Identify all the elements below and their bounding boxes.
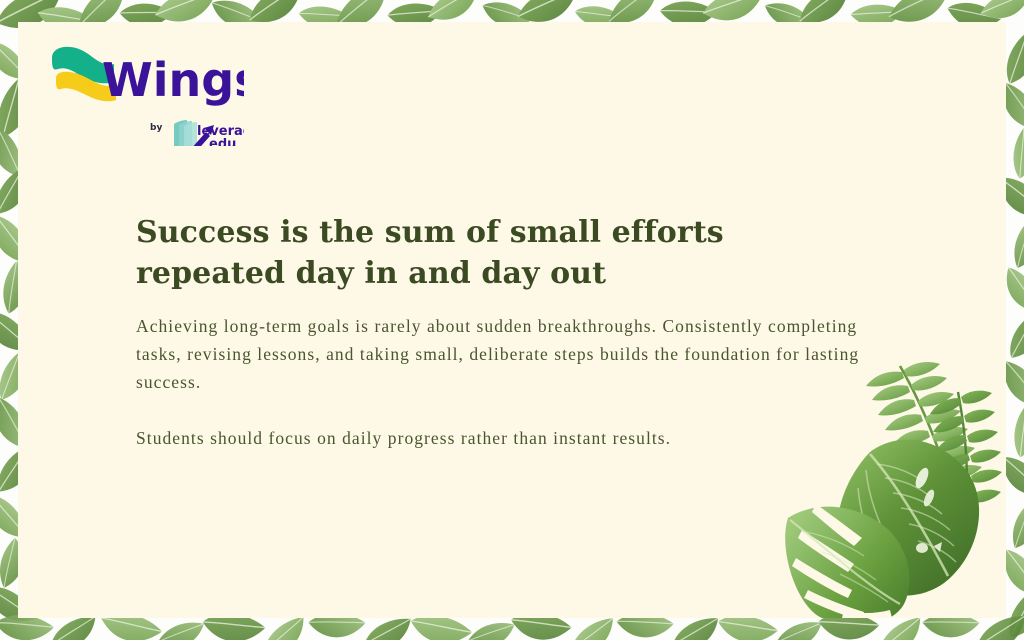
wings-wordmark: Wings	[102, 53, 244, 107]
quote-headline: Success is the sum of small efforts repe…	[136, 212, 881, 294]
slide-canvas: Wings by leverage edu Success is the sum…	[0, 0, 1024, 640]
quote-content: Success is the sum of small efforts repe…	[136, 212, 896, 452]
quote-paragraph-1: Achieving long-term goals is rarely abou…	[136, 312, 876, 396]
wings-logo[interactable]: Wings by leverage edu	[34, 28, 244, 146]
quote-paragraph-2: Students should focus on daily progress …	[136, 424, 876, 452]
paragraph-spacer	[136, 396, 896, 424]
quote-card: Wings by leverage edu Success is the sum…	[18, 22, 1006, 618]
fern-frond-right	[930, 391, 1002, 520]
edu-label: edu	[209, 137, 236, 146]
by-label: by	[150, 123, 162, 133]
banana-leaf	[837, 440, 979, 596]
monstera-leaf	[785, 504, 909, 618]
